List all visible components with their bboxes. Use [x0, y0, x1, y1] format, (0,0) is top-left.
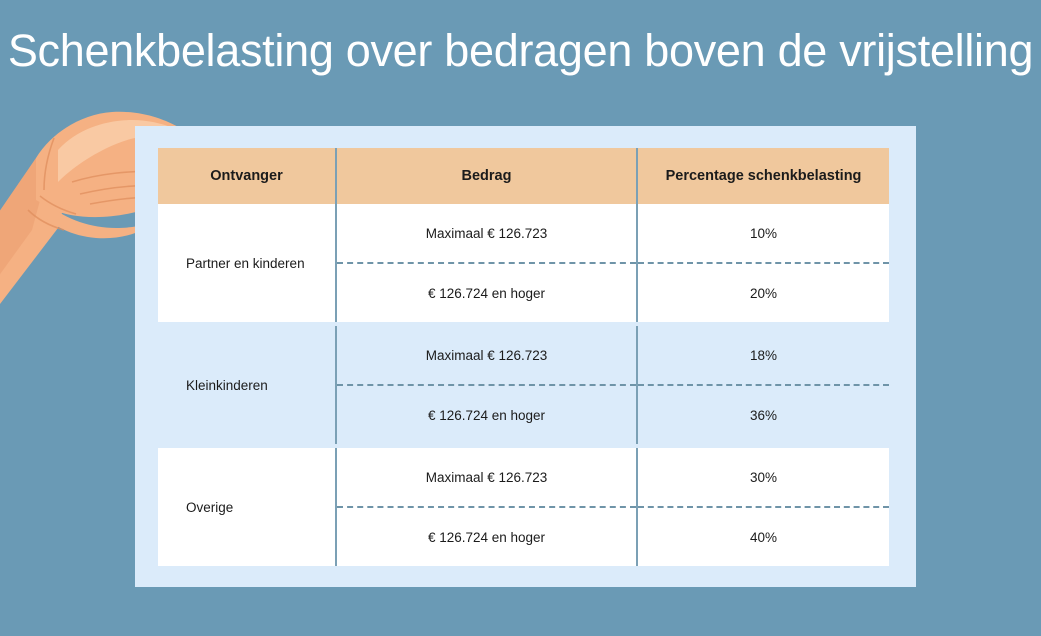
cell-amount: € 126.724 en hoger — [336, 263, 637, 322]
table-row: Kleinkinderen Maximaal € 126.723 18% — [158, 326, 889, 385]
cell-amount: € 126.724 en hoger — [336, 385, 637, 444]
cell-percentage: 10% — [637, 204, 889, 263]
cell-amount: € 126.724 en hoger — [336, 507, 637, 566]
table-row: Partner en kinderen Maximaal € 126.723 1… — [158, 204, 889, 263]
column-header-amount: Bedrag — [336, 148, 637, 204]
cell-percentage: 36% — [637, 385, 889, 444]
cell-recipient: Overige — [158, 448, 336, 566]
cell-amount: Maximaal € 126.723 — [336, 448, 637, 507]
cell-amount: Maximaal € 126.723 — [336, 326, 637, 385]
cell-percentage: 20% — [637, 263, 889, 322]
table-row: Overige Maximaal € 126.723 30% — [158, 448, 889, 507]
cell-recipient: Kleinkinderen — [158, 326, 336, 444]
cell-recipient: Partner en kinderen — [158, 204, 336, 322]
table-row-group: Partner en kinderen Maximaal € 126.723 1… — [158, 204, 889, 322]
table-row-group: Kleinkinderen Maximaal € 126.723 18% € 1… — [158, 326, 889, 444]
column-header-percentage: Percentage schenkbelasting — [637, 148, 889, 204]
table-container: Ontvanger Bedrag Percentage schenkbelast… — [158, 148, 889, 565]
table-card: Ontvanger Bedrag Percentage schenkbelast… — [135, 126, 916, 587]
page-title: Schenkbelasting over bedragen boven de v… — [0, 24, 1041, 78]
column-header-recipient: Ontvanger — [158, 148, 336, 204]
forearm-shape — [0, 158, 72, 346]
table-header-row: Ontvanger Bedrag Percentage schenkbelast… — [158, 148, 889, 204]
cell-percentage: 40% — [637, 507, 889, 566]
table-header: Ontvanger Bedrag Percentage schenkbelast… — [158, 148, 889, 204]
cell-percentage: 18% — [637, 326, 889, 385]
forearm-shadow — [0, 158, 46, 346]
cell-amount: Maximaal € 126.723 — [336, 204, 637, 263]
table-row-group: Overige Maximaal € 126.723 30% € 126.724… — [158, 448, 889, 566]
cell-percentage: 30% — [637, 448, 889, 507]
gift-tax-table: Ontvanger Bedrag Percentage schenkbelast… — [158, 148, 889, 566]
